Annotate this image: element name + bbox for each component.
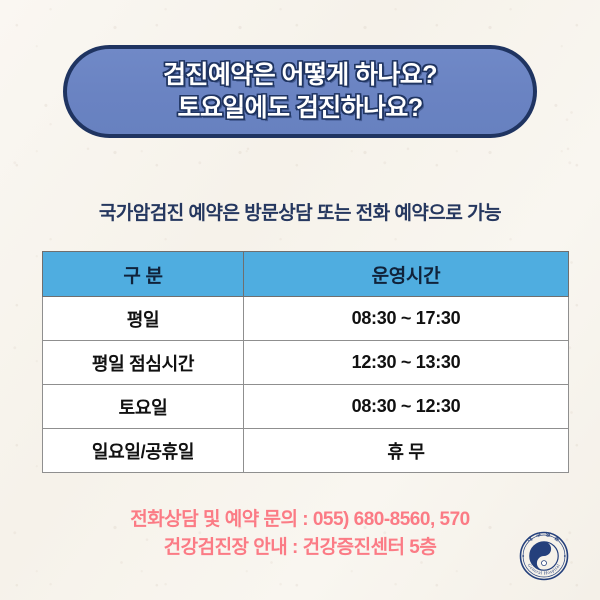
footer-location-line: 건강검진장 안내 : 건강증진센터 5층: [0, 534, 600, 562]
row-value-saturday: 08:30 ~ 12:30: [244, 385, 569, 429]
table-header-row: 구 분 운영시간: [43, 252, 569, 297]
table-row: 토요일 08:30 ~ 12:30: [43, 385, 569, 429]
row-label-weekday-lunch: 평일 점심시간: [43, 341, 244, 385]
table-body: 평일 08:30 ~ 17:30 평일 점심시간 12:30 ~ 13:30 토…: [43, 297, 569, 473]
row-label-weekday: 평일: [43, 297, 244, 341]
table-header-category: 구 분: [43, 252, 244, 297]
row-label-sunday-holiday: 일요일/공휴일: [43, 429, 244, 473]
banner-title-line-1: 검진예약은 어떻게 하나요?: [163, 60, 437, 91]
row-value-weekday-lunch: 12:30 ~ 13:30: [244, 341, 569, 385]
table-row: 평일 08:30 ~ 17:30: [43, 297, 569, 341]
row-label-saturday: 토요일: [43, 385, 244, 429]
footer-phone-line: 전화상담 및 예약 문의 : 055) 680-8560, 570: [0, 506, 600, 534]
footer-contact: 전화상담 및 예약 문의 : 055) 680-8560, 570 건강검진장 …: [0, 506, 600, 561]
table-header: 구 분 운영시간: [43, 252, 569, 297]
header-banner: 검진예약은 어떻게 하나요? 토요일에도 검진하나요?: [63, 45, 537, 138]
table-header-hours: 운영시간: [244, 252, 569, 297]
poster-canvas: 검진예약은 어떻게 하나요? 토요일에도 검진하나요? 국가암검진 예약은 방문…: [0, 0, 600, 600]
table-row: 평일 점심시간 12:30 ~ 13:30: [43, 341, 569, 385]
operating-hours-table: 구 분 운영시간 평일 08:30 ~ 17:30 평일 점심시간 12:30 …: [42, 251, 569, 473]
subtitle-text: 국가암검진 예약은 방문상담 또는 전화 예약으로 가능: [0, 198, 600, 225]
table-row: 일요일/공휴일 휴 무: [43, 429, 569, 473]
row-value-sunday-holiday: 휴 무: [244, 429, 569, 473]
row-value-weekday: 08:30 ~ 17:30: [244, 297, 569, 341]
banner-title-line-2: 토요일에도 검진하나요?: [177, 93, 422, 124]
hospital-seal-logo: 대 구 병 원 General Hospital: [512, 524, 576, 588]
